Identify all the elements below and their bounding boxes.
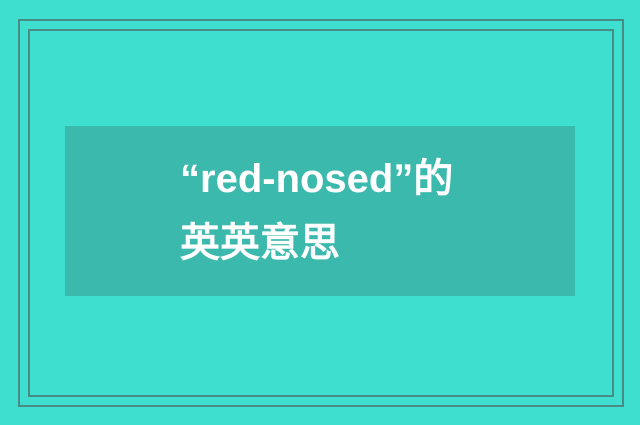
title-card-image: “red-nosed”的英英意思	[0, 0, 640, 425]
title-plate: “red-nosed”的英英意思	[65, 126, 575, 296]
page-title: “red-nosed”的英英意思	[180, 147, 460, 275]
